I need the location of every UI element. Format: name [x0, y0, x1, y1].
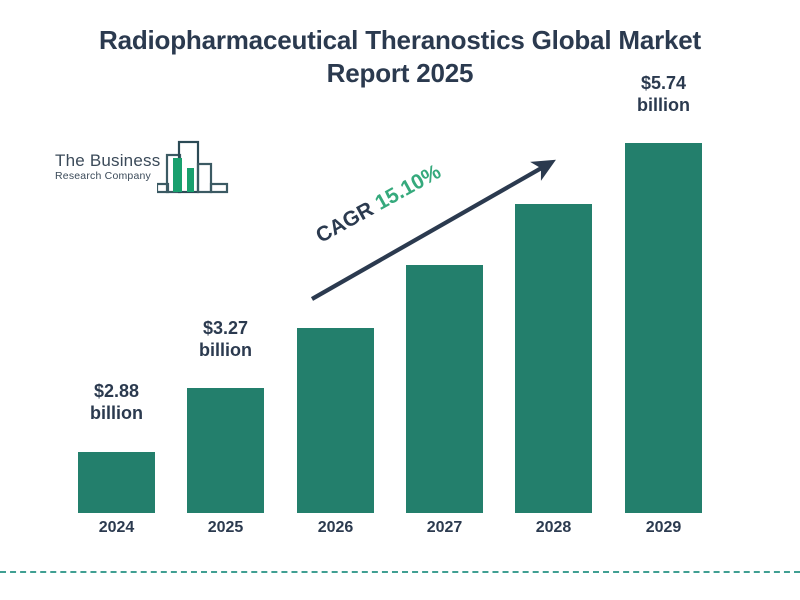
bar-2024: [78, 452, 155, 513]
x-tick-2029: 2029: [625, 519, 702, 537]
x-tick-2028: 2028: [515, 519, 592, 537]
bar-value-unit: billion: [608, 95, 719, 117]
bar-value-label-2029: $5.74 billion: [608, 73, 719, 117]
bar-2029: [625, 143, 702, 513]
x-tick-2024: 2024: [78, 519, 155, 537]
chart-page: Radiopharmaceutical Theranostics Global …: [0, 0, 800, 600]
footer-divider: [0, 571, 800, 573]
x-tick-2026: 2026: [297, 519, 374, 537]
bar-value-amount: $3.27: [170, 318, 281, 340]
cagr-value: 15.10%: [371, 160, 444, 215]
cagr-label: CAGR: [312, 198, 377, 248]
x-tick-2025: 2025: [187, 519, 264, 537]
bar-value-amount: $2.88: [61, 381, 172, 403]
bar-value-label-2025: $3.27 billion: [170, 318, 281, 362]
bar-2026: [297, 328, 374, 513]
bar-2028: [515, 204, 592, 513]
bar-value-label-2024: $2.88 billion: [61, 381, 172, 425]
bar-value-unit: billion: [170, 340, 281, 362]
bar-value-amount: $5.74: [608, 73, 719, 95]
bar-value-unit: billion: [61, 403, 172, 425]
bar-2027: [406, 265, 483, 513]
plot-area: $2.88 billion $3.27 billion $5.74 billio…: [0, 0, 800, 600]
cagr-annotation: CAGR 15.10%: [312, 160, 445, 248]
bar-2025: [187, 388, 264, 513]
x-tick-2027: 2027: [406, 519, 483, 537]
